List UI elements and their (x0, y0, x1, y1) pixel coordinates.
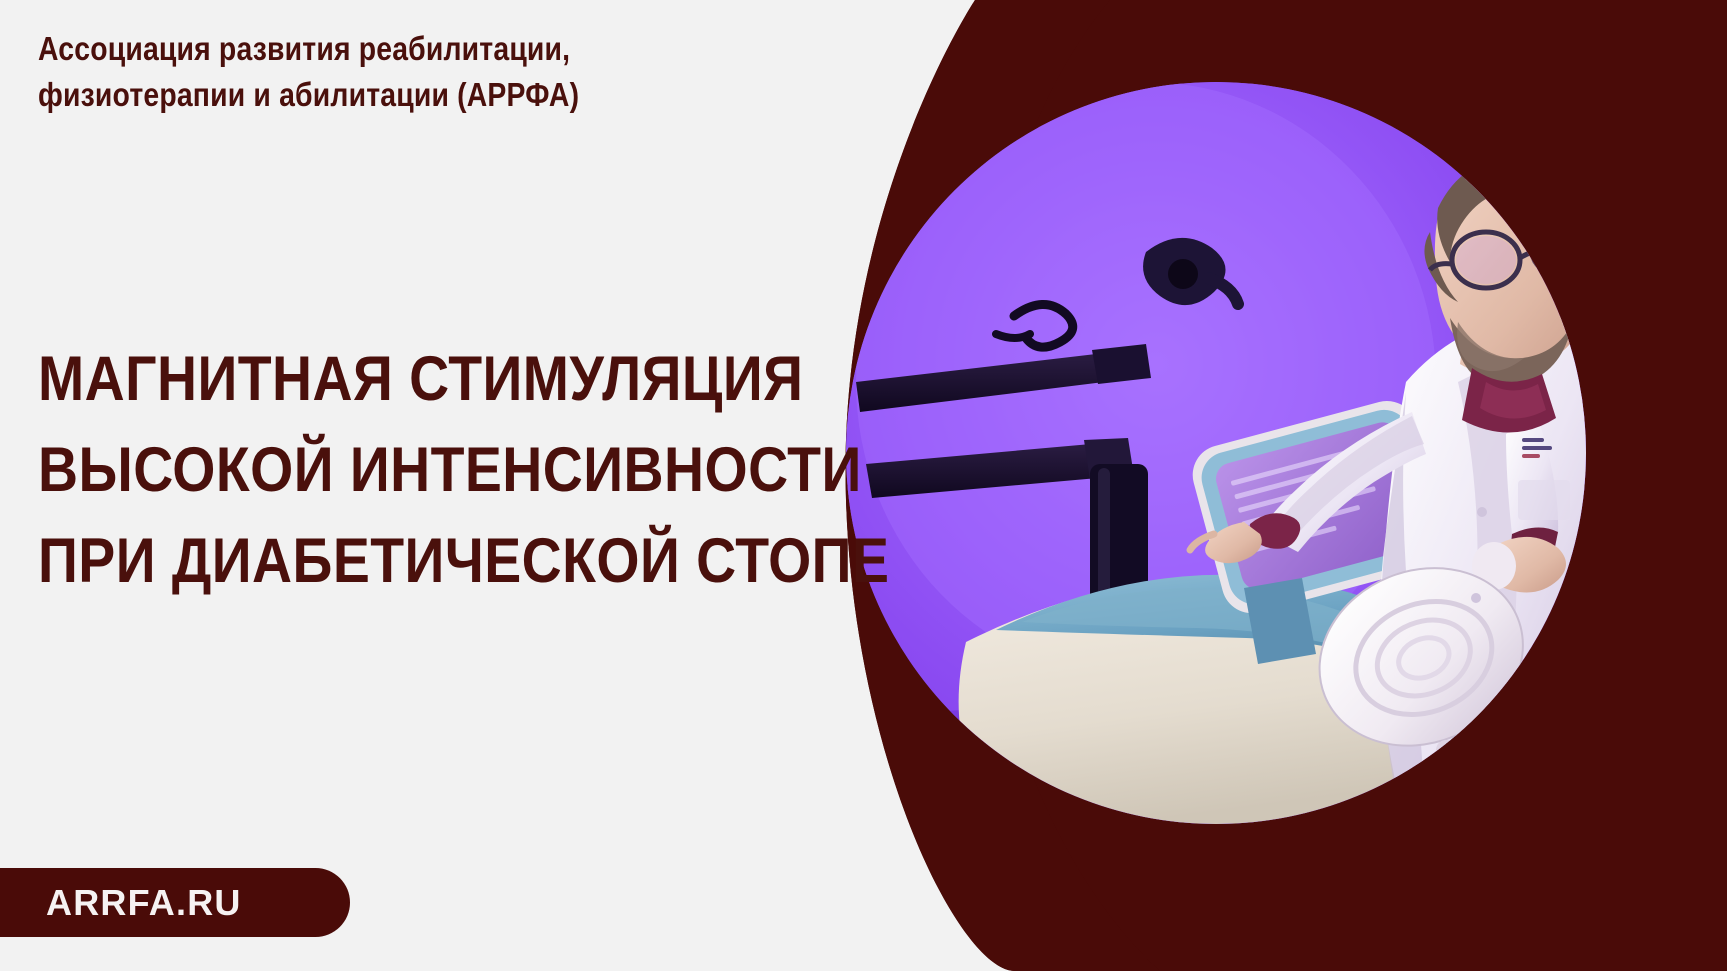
page-title: Магнитная стимуляция Высокой интенсивнос… (38, 334, 733, 607)
clinic-photo-inner (846, 82, 1586, 824)
organization-name-line-1: Ассоциация развития реабилитации, (38, 26, 692, 72)
organization-name-line-2: физиотерапии и абилитации (АРРФА) (38, 72, 692, 118)
page-title-line-2: Высокой интенсивности (38, 425, 733, 516)
clinic-photo-circle (846, 82, 1586, 824)
clinic-photo-illustration (846, 82, 1586, 824)
poster-canvas: Ассоциация развития реабилитации, физиот… (0, 0, 1727, 971)
text-column: Ассоциация развития реабилитации, физиот… (38, 0, 828, 971)
page-title-line-3: При диабетической стопе (38, 516, 733, 607)
website-badge[interactable]: ARRFA.RU (0, 868, 350, 937)
website-badge-label: ARRFA.RU (46, 882, 242, 924)
page-title-line-1: Магнитная стимуляция (38, 334, 733, 425)
organization-name: Ассоциация развития реабилитации, физиот… (38, 26, 692, 118)
